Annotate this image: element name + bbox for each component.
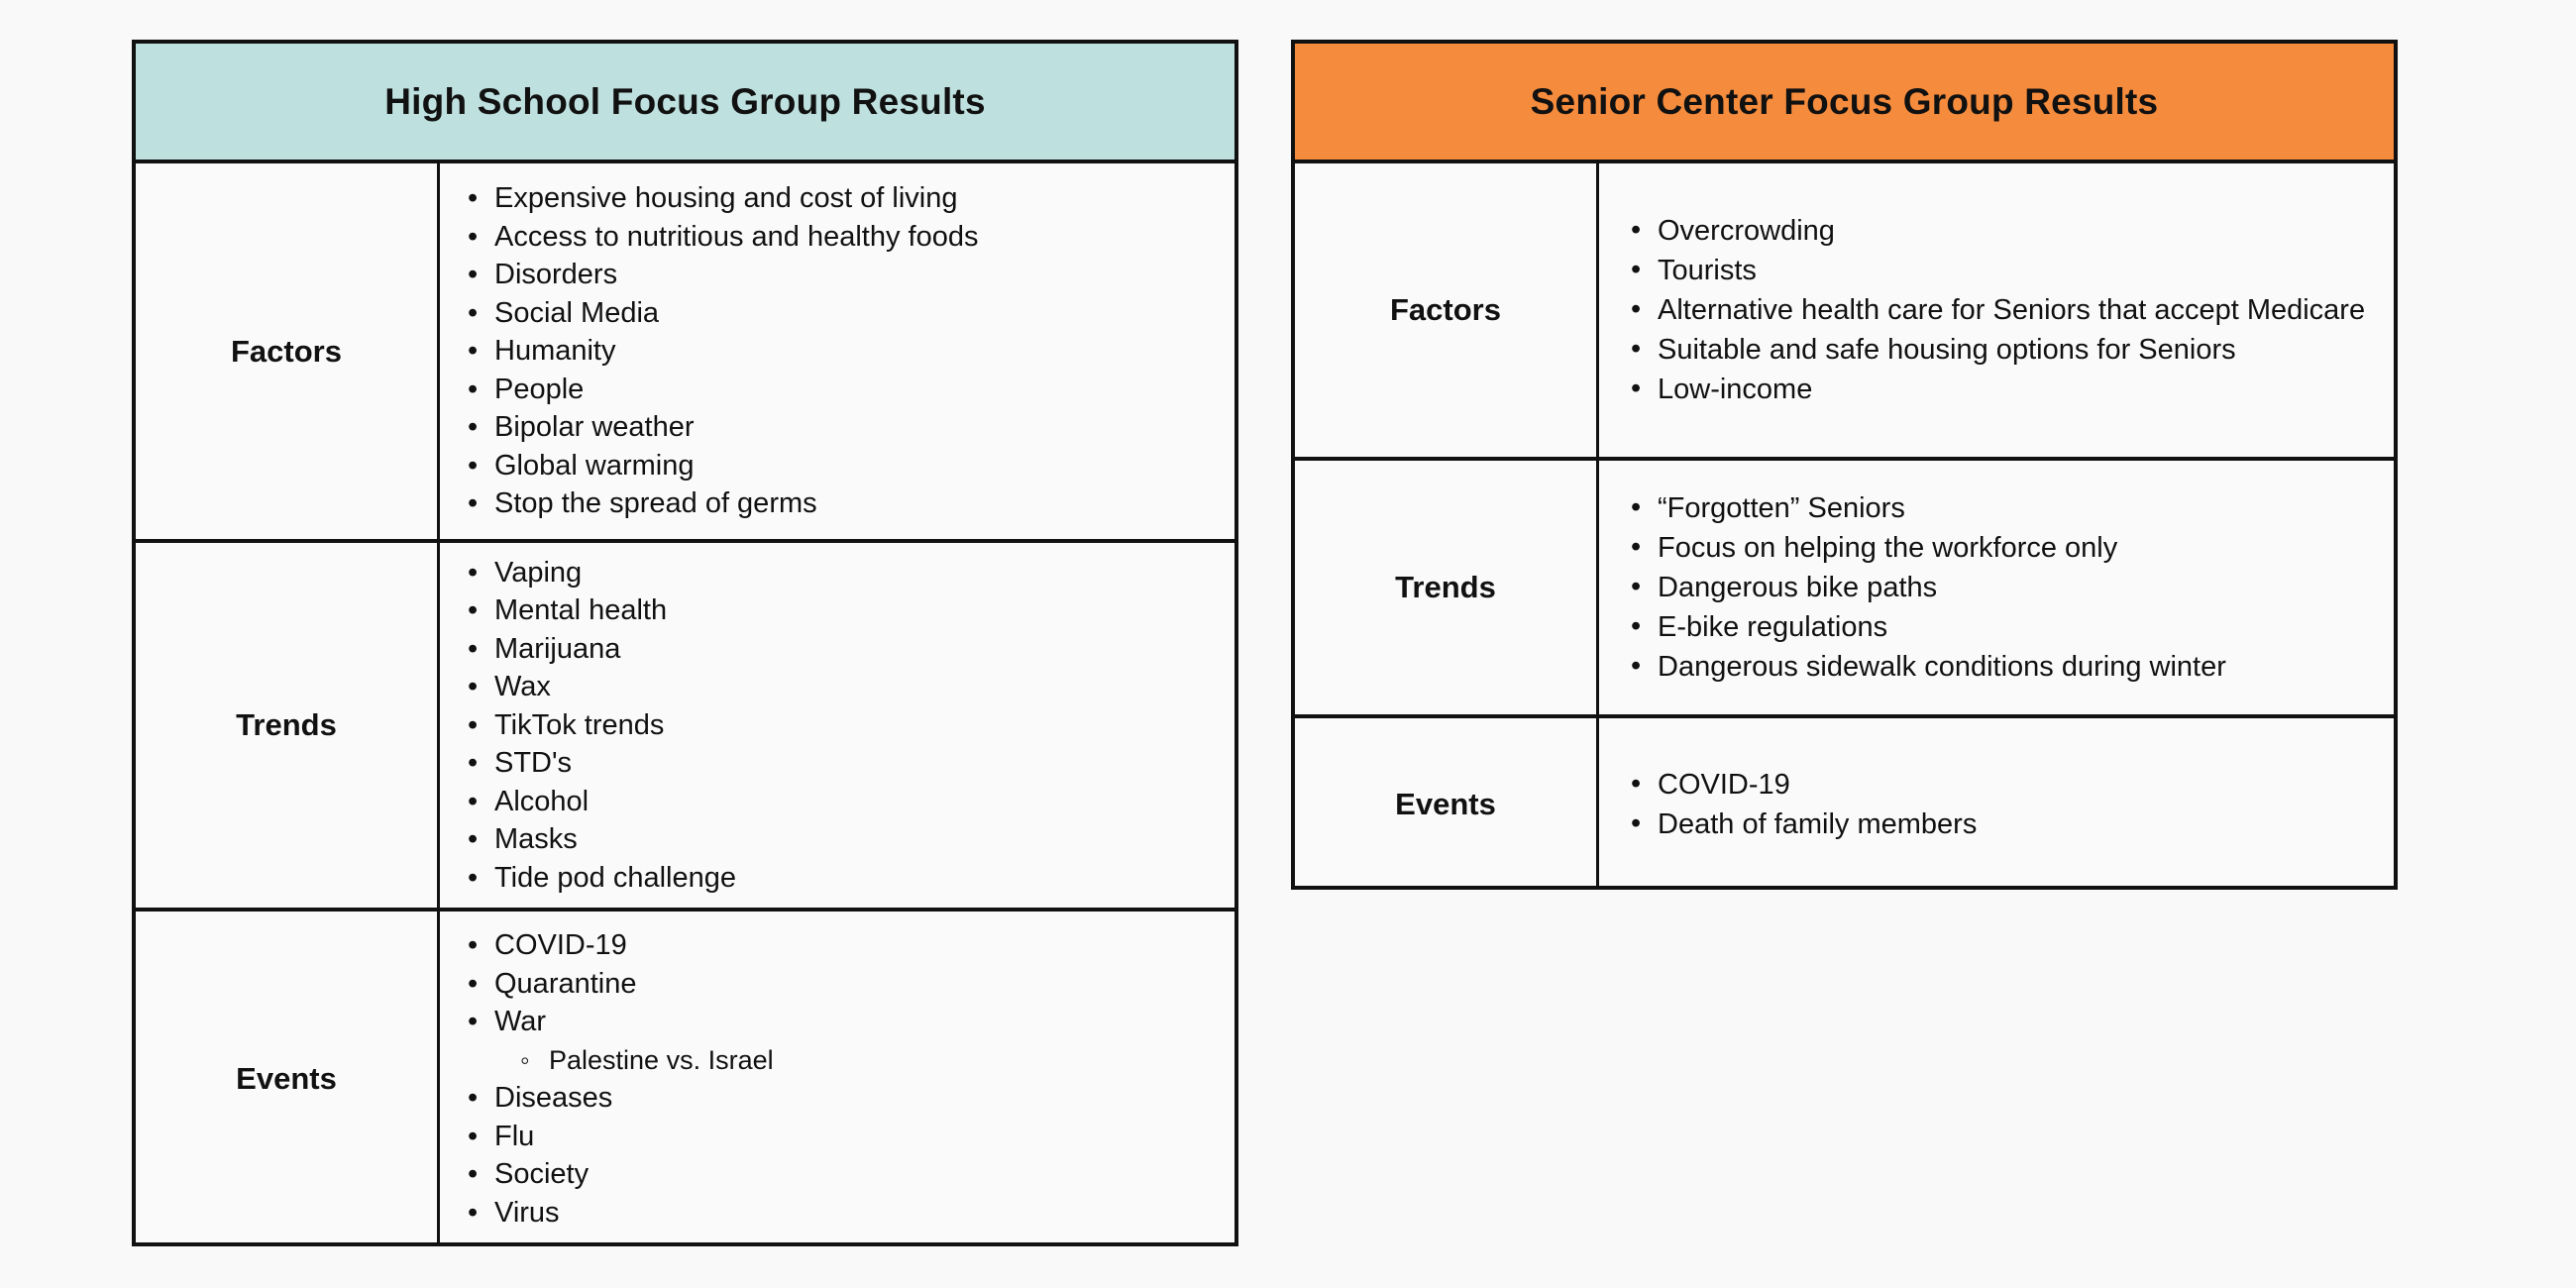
row-content-cell-factors: Expensive housing and cost of living Acc… — [440, 163, 1234, 539]
list-item: “Forgotten” Seniors — [1629, 488, 2368, 528]
table-row: Factors Overcrowding Tourists Alternativ… — [1295, 163, 2394, 461]
list-item: Vaping — [466, 554, 1209, 592]
list-item: Society — [466, 1155, 1209, 1194]
row-label-cell-trends: Trends — [1295, 461, 1599, 714]
row-label: Trends — [1395, 570, 1496, 605]
bullet-list: Expensive housing and cost of living Acc… — [466, 179, 1209, 523]
row-label-cell-trends: Trends — [136, 543, 440, 908]
list-item: Dangerous sidewalk conditions during win… — [1629, 647, 2368, 687]
list-item: Diseases — [466, 1079, 1209, 1118]
list-item: War — [466, 1003, 1209, 1041]
list-item: Low-income — [1629, 370, 2368, 409]
bullet-list: “Forgotten” Seniors Focus on helping the… — [1629, 488, 2368, 687]
list-item: Tide pod challenge — [466, 859, 1209, 898]
senior-center-focus-group-table: Senior Center Focus Group Results Factor… — [1291, 40, 2398, 890]
list-item: Flu — [466, 1118, 1209, 1156]
list-item: Death of family members — [1629, 805, 2368, 844]
row-label-cell-factors: Factors — [1295, 163, 1599, 457]
senior-center-table-title: Senior Center Focus Group Results — [1531, 81, 2159, 123]
high-school-focus-group-table: High School Focus Group Results Factors … — [132, 40, 1238, 1246]
list-item: Social Media — [466, 294, 1209, 333]
list-item: COVID-19 — [466, 926, 1209, 965]
senior-center-table-body: Factors Overcrowding Tourists Alternativ… — [1295, 163, 2394, 886]
high-school-table-body: Factors Expensive housing and cost of li… — [136, 163, 1234, 1242]
bullet-list: Vaping Mental health Marijuana Wax TikTo… — [466, 554, 1209, 898]
row-content-cell-events: COVID-19 Quarantine War Palestine vs. Is… — [440, 912, 1234, 1246]
list-item: COVID-19 — [1629, 765, 2368, 805]
table-row: Factors Expensive housing and cost of li… — [136, 163, 1234, 543]
list-item: Humanity — [466, 332, 1209, 371]
row-label: Trends — [236, 707, 337, 743]
list-item: Wax — [466, 668, 1209, 706]
row-content-cell-trends: “Forgotten” Seniors Focus on helping the… — [1599, 461, 2394, 714]
row-content-cell-trends: Vaping Mental health Marijuana Wax TikTo… — [440, 543, 1234, 908]
list-item: Tourists — [1629, 251, 2368, 290]
senior-center-table-header: Senior Center Focus Group Results — [1295, 44, 2394, 163]
table-row: Trends “Forgotten” Seniors Focus on help… — [1295, 461, 2394, 718]
bullet-list: Overcrowding Tourists Alternative health… — [1629, 211, 2368, 409]
list-item: Suitable and safe housing options for Se… — [1629, 330, 2368, 370]
list-item: E-bike regulations — [1629, 607, 2368, 647]
list-item: STD's — [466, 744, 1209, 783]
table-row: Events COVID-19 Quarantine War Palestine… — [136, 912, 1234, 1246]
list-item: Global warming — [466, 447, 1209, 485]
row-label: Events — [1395, 787, 1496, 822]
list-item: Overcrowding — [1629, 211, 2368, 251]
bullet-list: COVID-19 Death of family members — [1629, 765, 2368, 844]
row-content-cell-factors: Overcrowding Tourists Alternative health… — [1599, 163, 2394, 457]
table-row: Events COVID-19 Death of family members — [1295, 718, 2394, 890]
row-label-cell-events: Events — [136, 912, 440, 1246]
row-label-cell-events: Events — [1295, 718, 1599, 890]
row-label-cell-factors: Factors — [136, 163, 440, 539]
list-item: Disorders — [466, 256, 1209, 294]
list-item: Access to nutritious and healthy foods — [466, 218, 1209, 257]
list-item: Dangerous bike paths — [1629, 568, 2368, 607]
list-item: Expensive housing and cost of living — [466, 179, 1209, 218]
list-item: Masks — [466, 820, 1209, 859]
list-item: Bipolar weather — [466, 408, 1209, 447]
row-label: Factors — [1390, 292, 1501, 328]
list-item: TikTok trends — [466, 706, 1209, 745]
list-item: Virus — [466, 1194, 1209, 1233]
list-item: Quarantine — [466, 965, 1209, 1004]
row-label: Factors — [231, 334, 342, 370]
list-item: Alcohol — [466, 783, 1209, 821]
list-item: Focus on helping the workforce only — [1629, 528, 2368, 568]
list-item-nested: Palestine vs. Israel — [466, 1041, 1209, 1080]
bullet-list: COVID-19 Quarantine War Palestine vs. Is… — [466, 926, 1209, 1232]
list-item: Alternative health care for Seniors that… — [1629, 290, 2368, 330]
list-item: Mental health — [466, 591, 1209, 630]
row-content-cell-events: COVID-19 Death of family members — [1599, 718, 2394, 890]
table-row: Trends Vaping Mental health Marijuana Wa… — [136, 543, 1234, 912]
list-item: Stop the spread of germs — [466, 484, 1209, 523]
high-school-table-header: High School Focus Group Results — [136, 44, 1234, 163]
list-item: People — [466, 371, 1209, 409]
high-school-table-title: High School Focus Group Results — [384, 81, 985, 123]
row-label: Events — [236, 1061, 337, 1097]
list-item: Marijuana — [466, 630, 1209, 669]
